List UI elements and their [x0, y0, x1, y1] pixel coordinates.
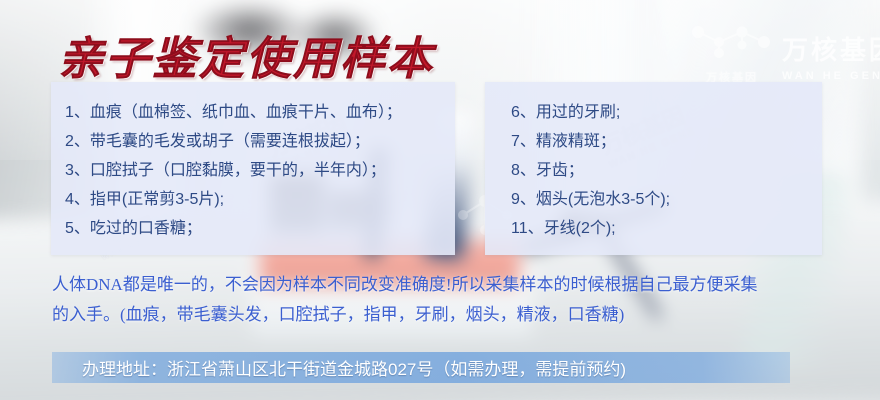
list-item: 5、吃过的口香糖； [65, 214, 455, 243]
list-item: 4、指甲(正常剪3-5片); [65, 185, 455, 214]
poster-canvas: 万核基因 万核基因 WAN HE GENE 万核基因 WAN HE GENE 万… [0, 0, 880, 400]
list-item: 8、牙齿； [511, 156, 822, 185]
list-item: 6、用过的牙刷; [511, 98, 822, 127]
list-item: 2、带毛囊的毛发或胡子（需要连根拔起）； [65, 127, 455, 156]
description-paragraph: 人体DNA都是唯一的，不会因为样本不同改变准确度!所以采集样本的时候根据自己最方… [52, 270, 842, 330]
sample-list-panel-right: 6、用过的牙刷; 7、精液精斑； 8、牙齿； 9、烟头(无泡水3-5个); 11… [485, 82, 822, 255]
list-item: 3、口腔拭子（口腔黏膜，要干的，半年内）； [65, 156, 455, 185]
list-item: 7、精液精斑； [511, 127, 822, 156]
sample-list-right: 6、用过的牙刷; 7、精液精斑； 8、牙齿； 9、烟头(无泡水3-5个); 11… [485, 82, 822, 243]
description-line-2: 的入手。(血痕，带毛囊头发，口腔拭子，指甲，牙刷，烟头，精液，口香糖) [52, 300, 842, 330]
list-item: 9、烟头(无泡水3-5个); [511, 185, 822, 214]
sample-list-panel-left: 1、血痕（血棉签、纸巾血、血痕干片、血布）； 2、带毛囊的毛发或胡子（需要连根拔… [51, 82, 455, 255]
list-item: 11、牙线(2个); [511, 214, 822, 243]
list-item: 1、血痕（血棉签、纸巾血、血痕干片、血布）； [65, 98, 455, 127]
description-line-1: 人体DNA都是唯一的，不会因为样本不同改变准确度!所以采集样本的时候根据自己最方… [52, 275, 758, 294]
page-title: 亲子鉴定使用样本 [58, 22, 434, 87]
address-bar: 办理地址：浙江省萧山区北干街道金城路027号（如需办理，需提前预约) [52, 352, 790, 383]
address-text: 办理地址：浙江省萧山区北干街道金城路027号（如需办理，需提前预约) [52, 355, 626, 380]
sample-list-left: 1、血痕（血棉签、纸巾血、血痕干片、血布）； 2、带毛囊的毛发或胡子（需要连根拔… [51, 82, 455, 243]
